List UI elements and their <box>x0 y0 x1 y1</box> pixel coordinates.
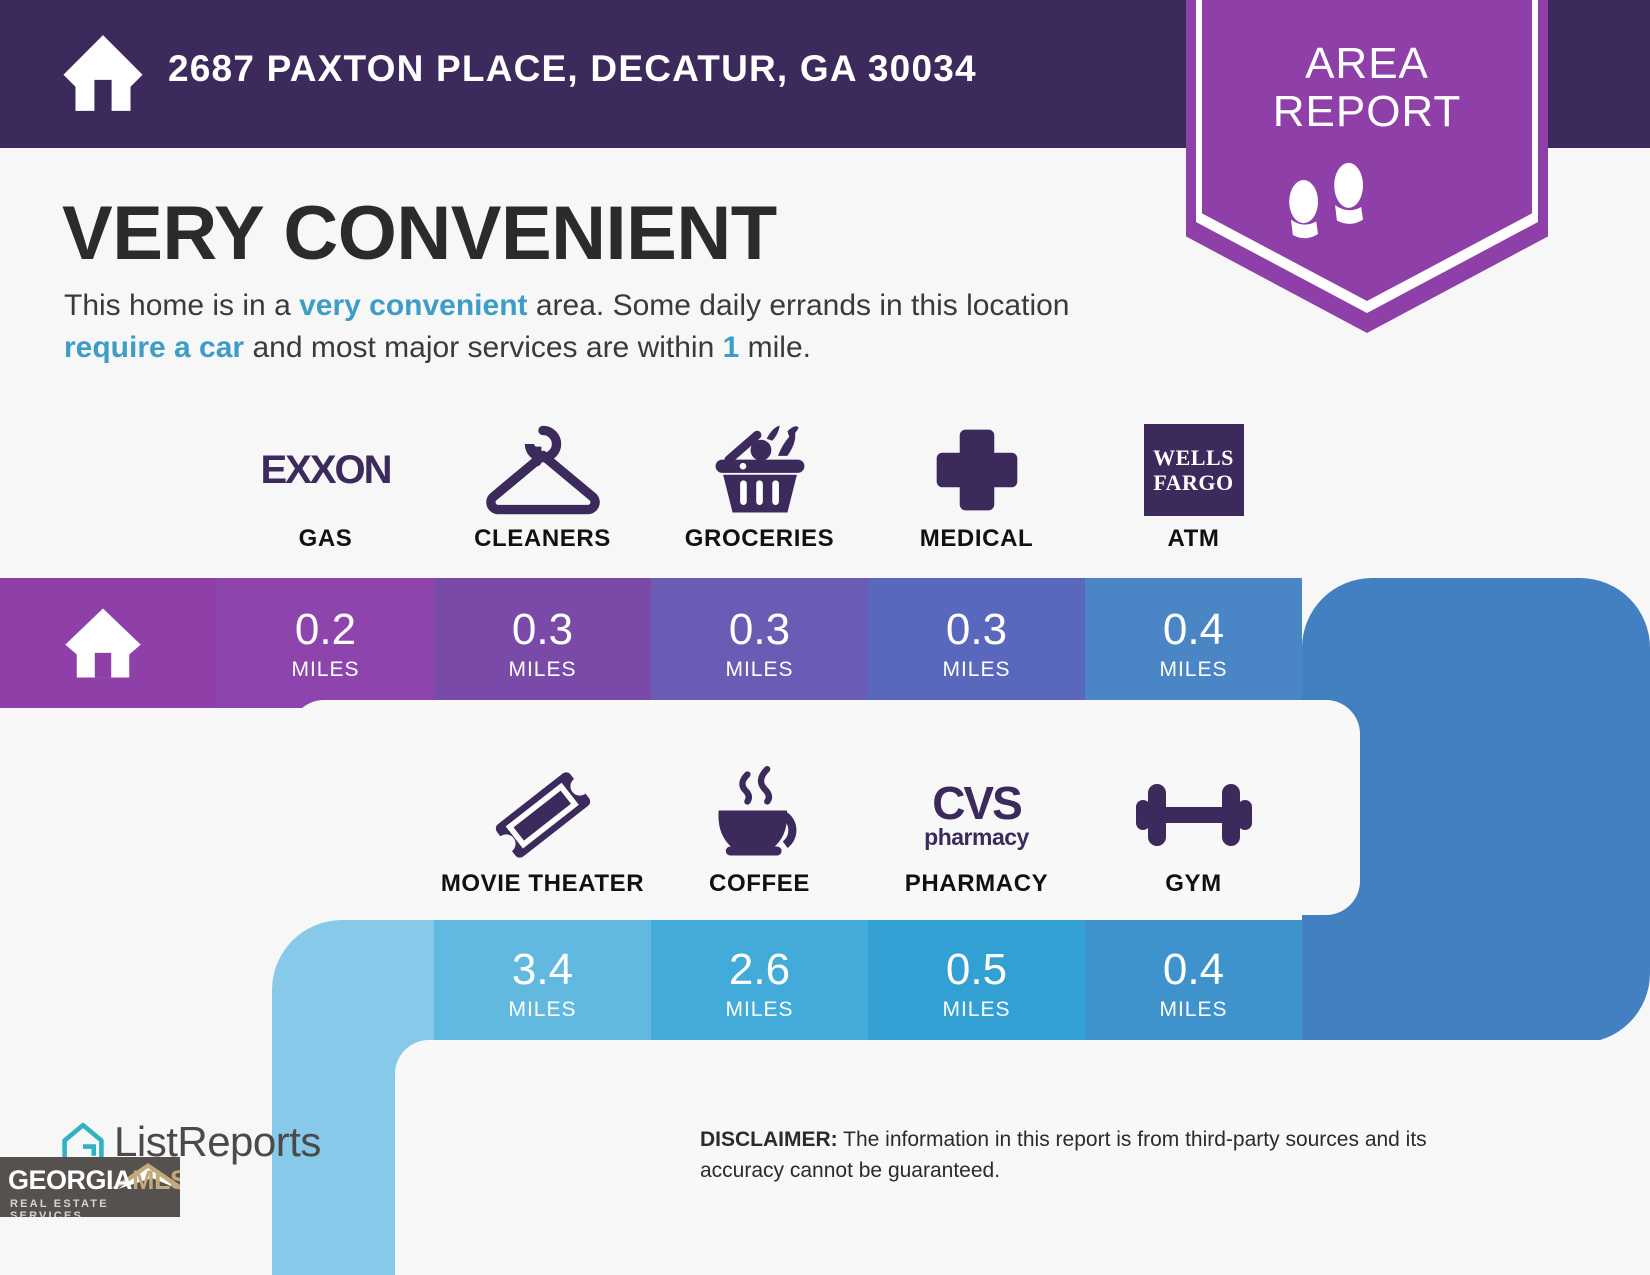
movie-ticket-icon <box>434 760 651 870</box>
wells-fargo-line1: WELLS <box>1153 445 1234 470</box>
distance-value: 0.3 <box>434 608 651 652</box>
amenity-label: ATM <box>1085 525 1302 553</box>
distance-cell-cleaners: 0.3 MILES <box>434 578 651 708</box>
distance-cell-medical: 0.3 MILES <box>868 578 1085 708</box>
distance-cell-gas: 0.2 MILES <box>217 578 434 708</box>
gmls-mls: MLS <box>132 1165 180 1195</box>
amenity-label: CLEANERS <box>434 525 651 553</box>
amenity-label: MEDICAL <box>868 525 1085 553</box>
amenity-label: COFFEE <box>651 870 868 898</box>
medical-cross-icon <box>868 415 1085 525</box>
amenity-gas: EXXON GAS <box>217 415 434 553</box>
distance-unit: MILES <box>868 658 1085 682</box>
gmls-wordmark: GEORGIAMLS <box>8 1165 180 1196</box>
amenity-label: MOVIE THEATER <box>434 870 651 898</box>
distance-unit: MILES <box>1085 658 1302 682</box>
amenity-coffee: COFFEE <box>651 760 868 898</box>
amenity-cleaners: CLEANERS <box>434 415 651 553</box>
distance-cell-atm: 0.4 MILES <box>1085 578 1302 708</box>
amenity-movie-theater: MOVIE THEATER <box>434 760 651 898</box>
amenity-groceries: GROCERIES <box>651 415 868 553</box>
wells-fargo-logo-icon: WELLS FARGO <box>1085 415 1302 525</box>
distance-value: 0.4 <box>1085 608 1302 652</box>
distance-value: 0.3 <box>868 608 1085 652</box>
wells-fargo-line2: FARGO <box>1153 470 1233 495</box>
grocery-basket-icon <box>651 415 868 525</box>
distance-unit: MILES <box>434 998 651 1022</box>
coffee-cup-icon <box>651 760 868 870</box>
cvs-logo-icon: CVS pharmacy <box>868 760 1085 870</box>
exxon-wordmark: EXXON <box>260 448 390 493</box>
distance-cell-groceries: 0.3 MILES <box>651 578 868 708</box>
amenity-atm: WELLS FARGO ATM <box>1085 415 1302 553</box>
distance-cell-pharmacy: 0.5 MILES <box>868 920 1085 1045</box>
cvs-pharmacy-wordmark: pharmacy <box>924 825 1029 849</box>
distance-value: 0.5 <box>868 948 1085 992</box>
dumbbell-icon <box>1085 760 1302 870</box>
distance-unit: MILES <box>434 658 651 682</box>
amenity-medical: MEDICAL <box>868 415 1085 553</box>
gmls-georgia: GEORGIA <box>8 1165 132 1195</box>
disclaimer-label: DISCLAIMER: <box>700 1128 838 1151</box>
distance-value: 0.2 <box>217 608 434 652</box>
distance-value: 2.6 <box>651 948 868 992</box>
path-home-cell <box>0 578 217 708</box>
distance-value: 0.4 <box>1085 948 1302 992</box>
distance-unit: MILES <box>651 658 868 682</box>
hanger-icon <box>434 415 651 525</box>
distance-unit: MILES <box>1085 998 1302 1022</box>
gmls-tagline: REAL ESTATE SERVICES <box>10 1198 180 1217</box>
distance-unit: MILES <box>868 998 1085 1022</box>
amenity-label: GYM <box>1085 870 1302 898</box>
distance-value: 0.3 <box>651 608 868 652</box>
distance-unit: MILES <box>217 658 434 682</box>
distance-cell-gym: 0.4 MILES <box>1085 920 1302 1045</box>
amenity-label: PHARMACY <box>868 870 1085 898</box>
amenity-gym: GYM <box>1085 760 1302 898</box>
amenity-pharmacy: CVS pharmacy PHARMACY <box>868 760 1085 898</box>
exxon-logo-icon: EXXON <box>217 415 434 525</box>
distance-value: 3.4 <box>434 948 651 992</box>
distance-cell-coffee: 2.6 MILES <box>651 920 868 1045</box>
disclaimer-text: DISCLAIMER: The information in this repo… <box>700 1124 1510 1186</box>
cvs-wordmark: CVS <box>932 781 1021 825</box>
distance-unit: MILES <box>651 998 868 1022</box>
amenity-label: GROCERIES <box>651 525 868 553</box>
amenity-label: GAS <box>217 525 434 553</box>
georgia-mls-badge: GEORGIAMLS REAL ESTATE SERVICES <box>0 1157 180 1217</box>
distance-cell-movie-theater: 3.4 MILES <box>434 920 651 1045</box>
